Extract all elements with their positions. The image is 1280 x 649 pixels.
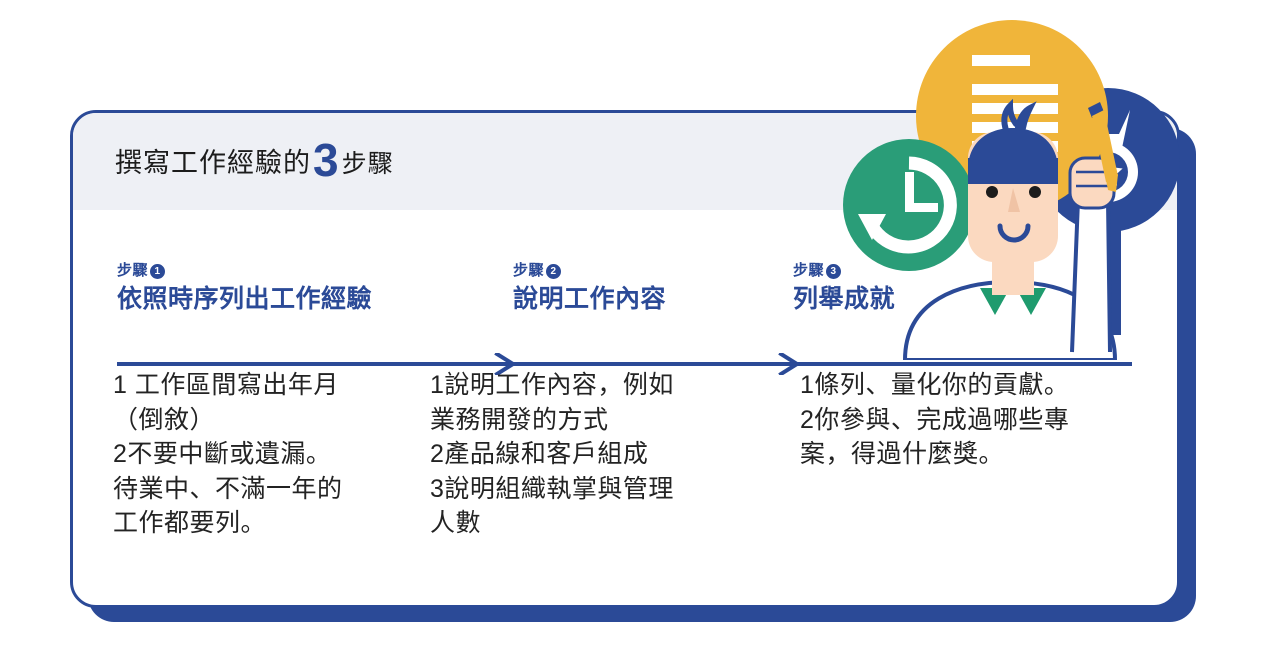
step-header-2: 步驟2 說明工作內容 [513, 263, 788, 313]
step-number-badge-3: 3 [826, 264, 841, 279]
step-number-badge-1: 1 [150, 264, 165, 279]
step-header-3: 步驟3 列舉成就 [793, 263, 1053, 313]
page-title: 撰寫工作經驗的3步驟 [115, 137, 394, 183]
step-title-3: 列舉成就 [793, 285, 1053, 314]
page-title-number: 3 [311, 134, 342, 186]
step-kicker-1: 步驟1 [117, 263, 437, 280]
step-body-1: 1 工作區間寫出年月 （倒敘） 2不要中斷或遺漏。 待業中、不滿一年的 工作都要… [113, 368, 433, 541]
step-kicker-label-2: 步驟 [513, 262, 544, 279]
step-body-2: 1說明工作內容，例如 業務開發的方式 2產品線和客戶組成 3說明組織執掌與管理 … [430, 368, 750, 541]
step-number-badge-2: 2 [546, 264, 561, 279]
step-kicker-3: 步驟3 [793, 263, 1053, 280]
step-kicker-label-3: 步驟 [793, 262, 824, 279]
infographic-canvas: 撰寫工作經驗的3步驟 步驟1 依照時序列出工作經驗 步驟2 說明工作內容 步驟3 [0, 0, 1280, 649]
steps-card: 撰寫工作經驗的3步驟 步驟1 依照時序列出工作經驗 步驟2 說明工作內容 步驟3 [70, 110, 1180, 608]
step-title-2: 說明工作內容 [513, 285, 788, 314]
page-title-prefix: 撰寫工作經驗的 [115, 148, 311, 178]
step-header-1: 步驟1 依照時序列出工作經驗 [117, 263, 437, 313]
page-title-suffix: 步驟 [342, 150, 394, 178]
step-kicker-2: 步驟2 [513, 263, 788, 280]
step-kicker-label-1: 步驟 [117, 262, 148, 279]
step-body-3: 1條列、量化你的貢獻。 2你參與、完成過哪些專 案，得過什麼獎。 [800, 368, 1130, 472]
step-title-1: 依照時序列出工作經驗 [117, 285, 437, 314]
